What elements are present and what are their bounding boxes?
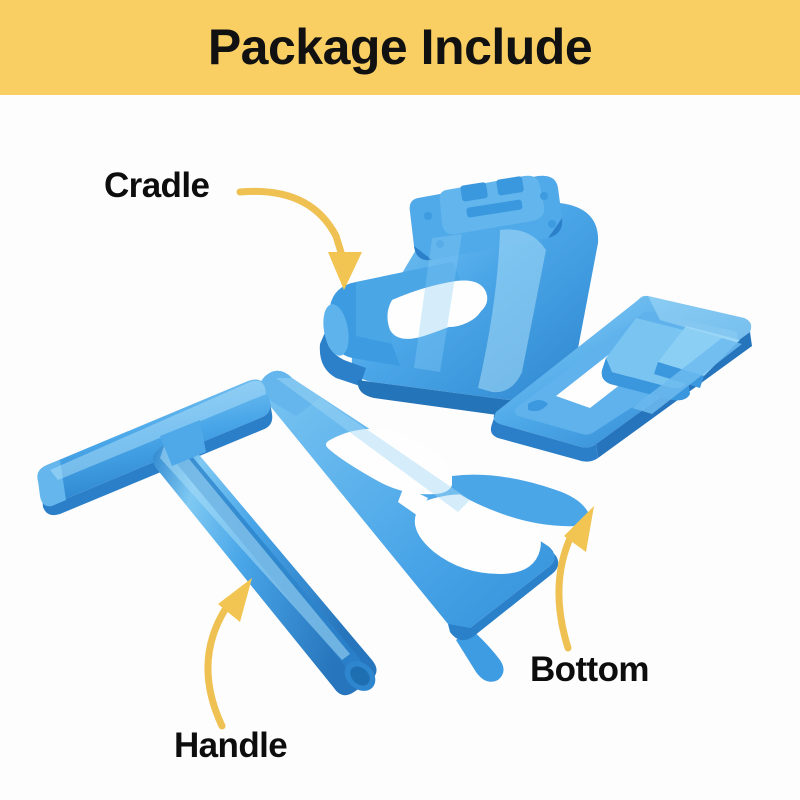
product-infographic: Package Include xyxy=(0,0,800,800)
callout-label-bottom: Bottom xyxy=(530,652,649,687)
callout-label-handle: Handle xyxy=(174,728,287,763)
bottom-arrow-icon xyxy=(559,506,594,648)
cradle-arrow-icon xyxy=(240,191,362,290)
callout-label-cradle: Cradle xyxy=(104,168,209,203)
parts-illustration xyxy=(0,0,800,800)
handle-arrow-icon xyxy=(208,578,252,726)
